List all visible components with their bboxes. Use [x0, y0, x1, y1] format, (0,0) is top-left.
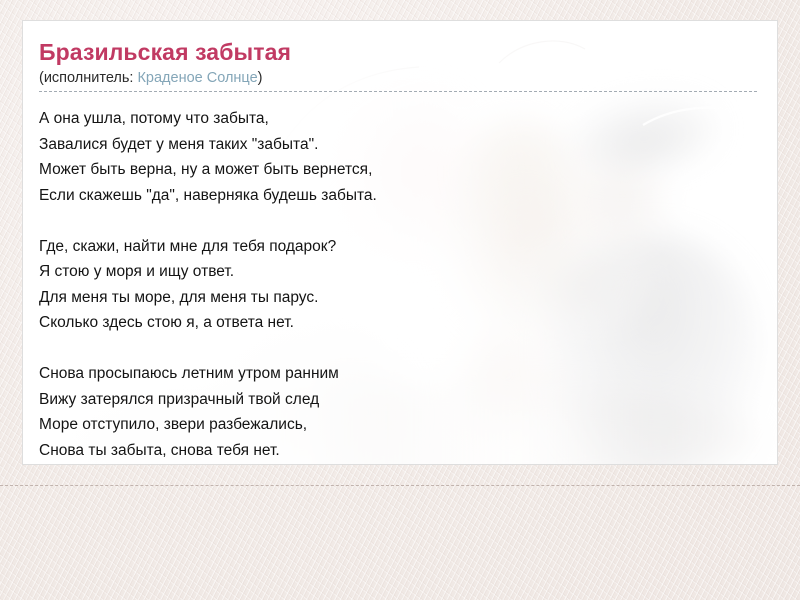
page-dashed-divider	[0, 485, 800, 486]
artist-link[interactable]: Краденое Солнце	[137, 70, 257, 86]
lyric-line: Снова ты забыта, снова тебя нет.	[39, 438, 757, 464]
byline-suffix-label: )	[258, 70, 263, 86]
lyric-line: Вижу затерялся призрачный твой след	[39, 387, 757, 413]
lyric-stanza: Где, скажи, найти мне для тебя подарок?Я…	[39, 234, 757, 336]
lyric-line: Снова просыпаюсь летним утром ранним	[39, 361, 757, 387]
lyric-line: Море отступило, звери разбежались,	[39, 412, 757, 438]
lyric-line: Завалися будет у меня таких "забыта".	[39, 132, 757, 158]
lyric-line: Я стою у моря и ищу ответ.	[39, 259, 757, 285]
lyrics-panel: Бразильская забытая (исполнитель: Краден…	[22, 20, 778, 465]
lyric-stanza: А она ушла, потому что забыта,Завалися б…	[39, 106, 757, 208]
lyric-stanza: Снова просыпаюсь летним утром раннимВижу…	[39, 361, 757, 463]
lyric-line: А она ушла, потому что забыта,	[39, 106, 757, 132]
byline-prefix-label: (исполнитель:	[39, 70, 137, 86]
lyric-line: Может быть верна, ну а может быть вернет…	[39, 157, 757, 183]
lyrics-body: А она ушла, потому что забыта,Завалися б…	[39, 106, 757, 463]
header-divider	[39, 91, 757, 92]
panel-content: Бразильская забытая (исполнитель: Краден…	[23, 21, 777, 463]
lyric-line: Где, скажи, найти мне для тебя подарок?	[39, 234, 757, 260]
lyric-line: Для меня ты море, для меня ты парус.	[39, 285, 757, 311]
song-title: Бразильская забытая	[39, 39, 757, 66]
lyric-line: Сколько здесь стою я, а ответа нет.	[39, 310, 757, 336]
artist-byline: (исполнитель: Краденое Солнце)	[39, 69, 757, 87]
lyric-line: Если скажешь "да", наверняка будешь забы…	[39, 183, 757, 209]
